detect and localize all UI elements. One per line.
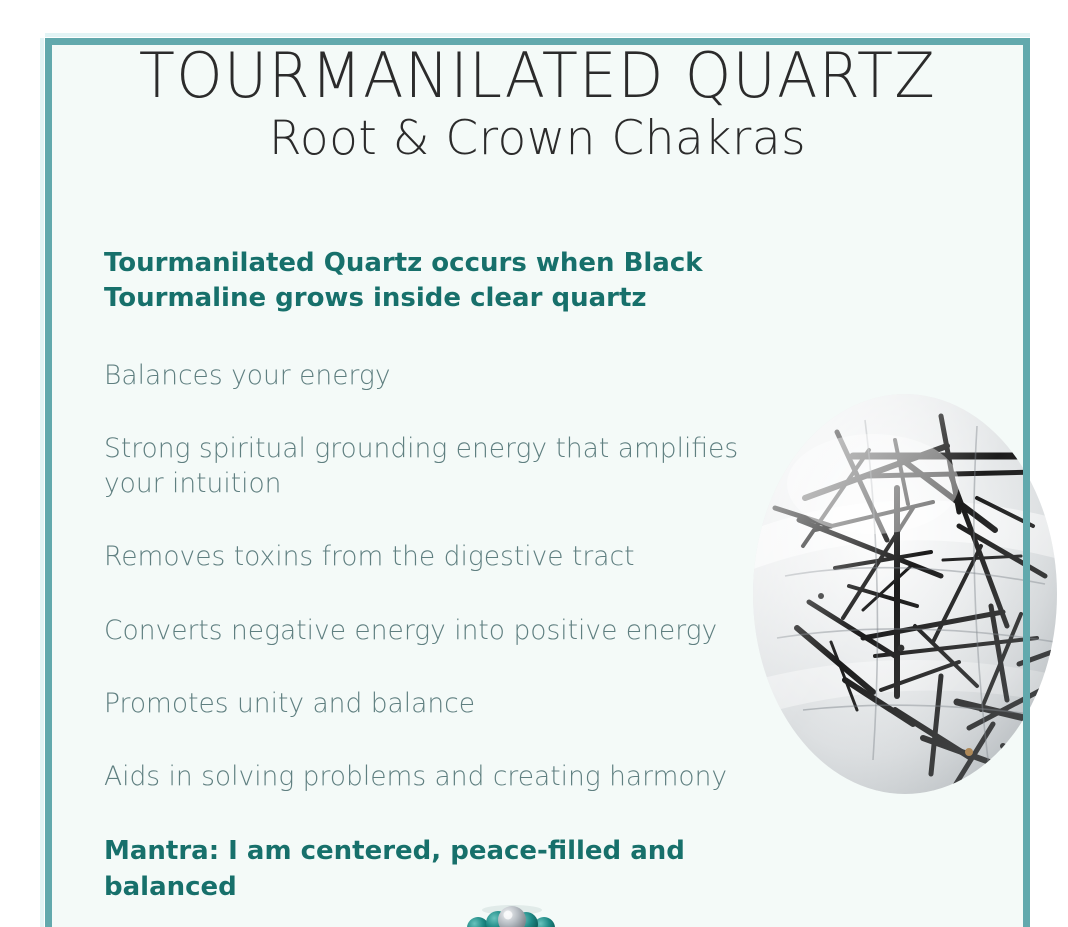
spacer [104, 393, 764, 431]
spacer [104, 721, 764, 759]
intro-text: Tourmanilated Quartz occurs when Black T… [104, 246, 764, 317]
spacer [104, 501, 764, 539]
quartz-stone-image [745, 380, 1068, 816]
quartz-stone-icon [745, 380, 1068, 816]
page-subtitle: Root & Crown Chakras [52, 113, 1023, 165]
page-title: TOURMANILATED QUARTZ [76, 44, 998, 107]
bead-cluster-ornament [452, 898, 572, 927]
frame-left-border [45, 38, 52, 927]
spacer [104, 794, 764, 834]
frame-left-hairline [40, 38, 44, 927]
property-item: Converts negative energy into positive e… [104, 613, 764, 648]
property-item: Promotes unity and balance [104, 686, 764, 721]
spacer [104, 317, 764, 358]
frame-top-hairline [45, 33, 1030, 37]
body-content: Tourmanilated Quartz occurs when Black T… [104, 246, 764, 905]
property-item: Balances your energy [104, 358, 764, 393]
spacer [104, 575, 764, 613]
property-item: Strong spiritual grounding energy that a… [104, 431, 764, 501]
infographic-card: TOURMANILATED QUARTZ Root & Crown Chakra… [0, 0, 1068, 927]
frame-right-border [1023, 38, 1030, 927]
property-item: Aids in solving problems and creating ha… [104, 759, 764, 794]
spacer [104, 648, 764, 686]
beads-icon [452, 898, 572, 927]
property-item: Removes toxins from the digestive tract [104, 539, 764, 574]
mantra-text: Mantra: I am centered, peace-filled and … [104, 834, 764, 905]
card-heading: TOURMANILATED QUARTZ Root & Crown Chakra… [52, 44, 1023, 165]
